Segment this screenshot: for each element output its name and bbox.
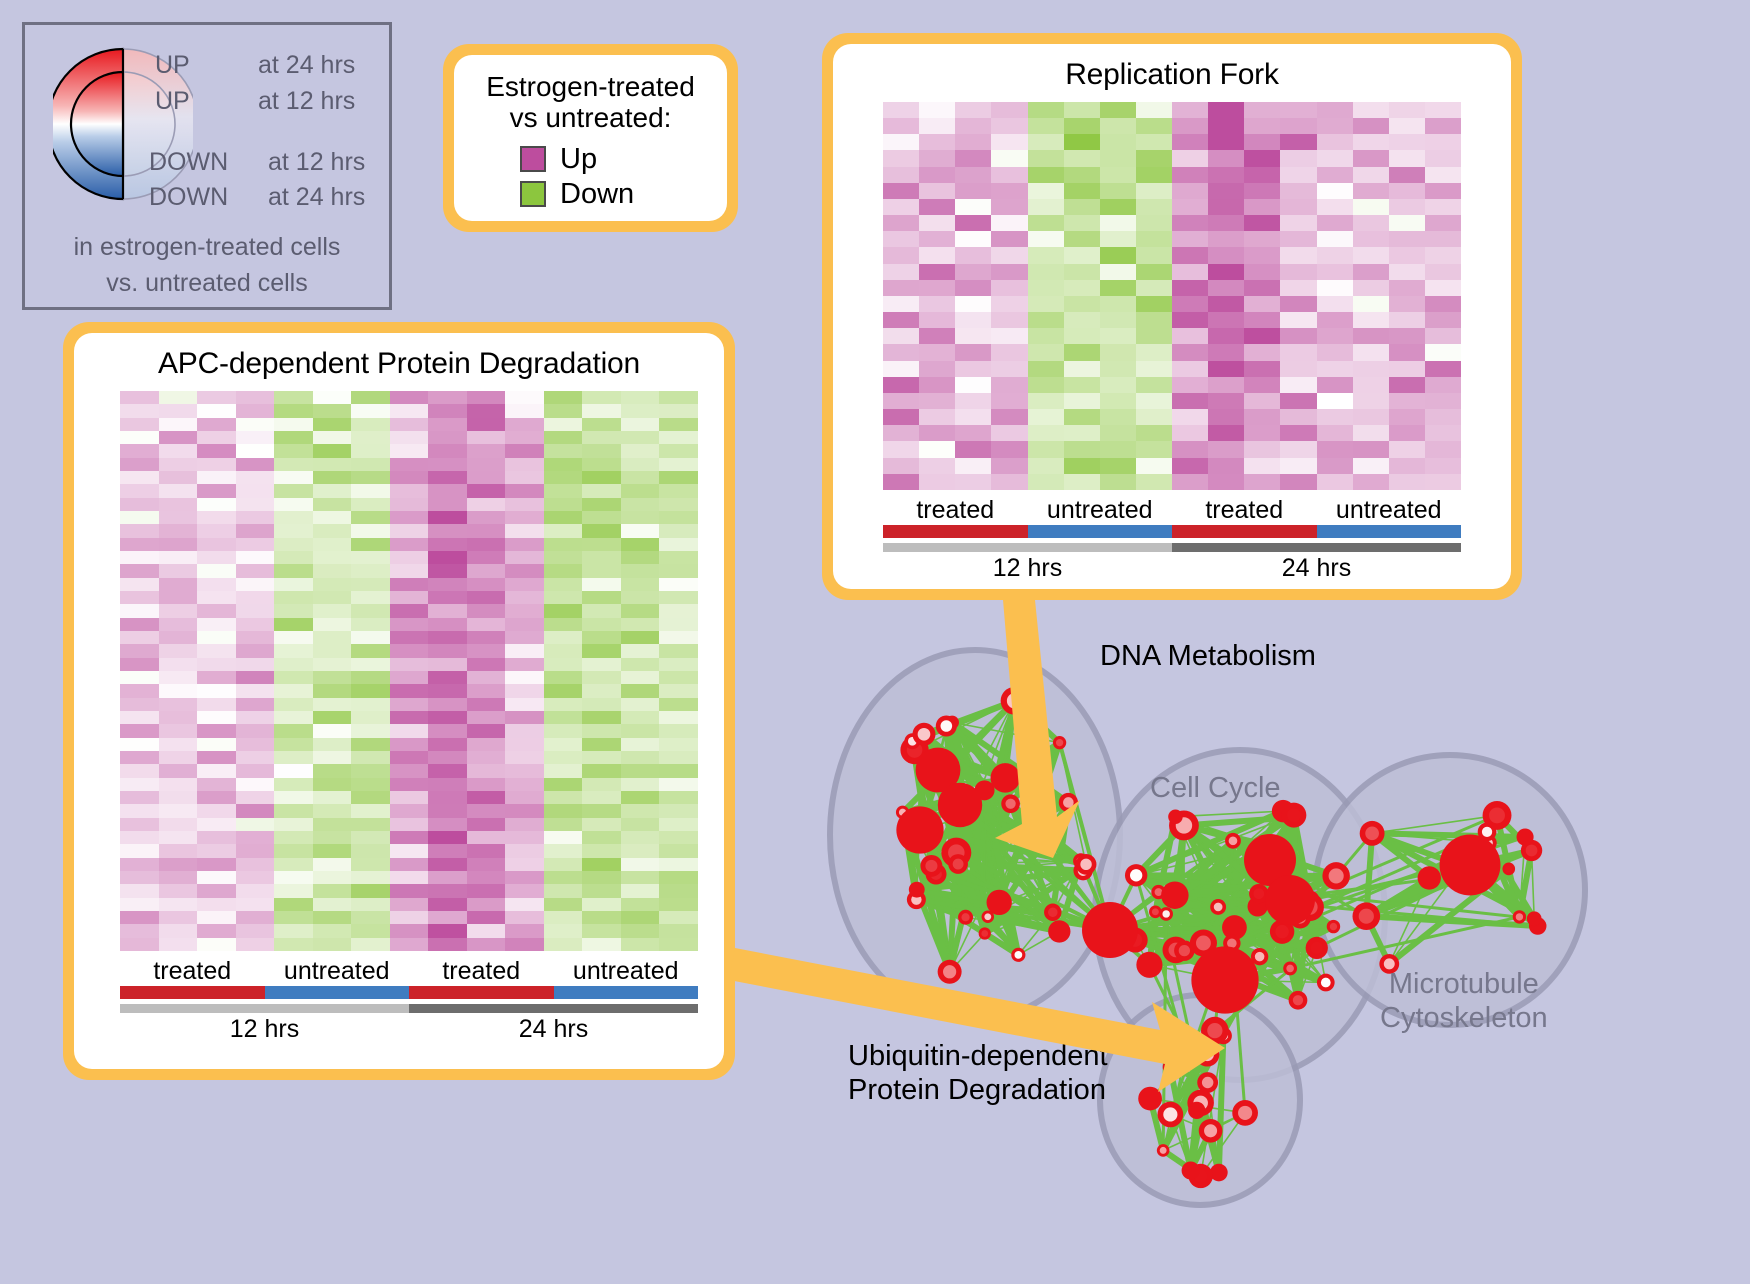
heatmap-cell xyxy=(120,871,159,884)
heatmap-cell xyxy=(582,484,621,497)
heatmap-cell xyxy=(1172,264,1208,280)
heatmap-cell xyxy=(351,791,390,804)
heatmap-cell xyxy=(120,604,159,617)
apc-time-bars xyxy=(120,1004,698,1013)
heatmap-cell xyxy=(428,658,467,671)
heatmap-cell xyxy=(505,431,544,444)
heatmap-cell xyxy=(659,631,698,644)
heatmap-cell xyxy=(274,764,313,777)
heatmap-cell xyxy=(1353,102,1389,118)
heatmap-cell xyxy=(197,404,236,417)
network-node[interactable] xyxy=(1517,829,1534,846)
heatmap-cell xyxy=(955,458,991,474)
network-node[interactable] xyxy=(1048,920,1070,942)
heatmap-cell xyxy=(1172,441,1208,457)
heatmap-cell xyxy=(274,511,313,524)
heatmap-cell xyxy=(659,604,698,617)
heatmap-cell xyxy=(159,938,198,951)
heatmap-cell xyxy=(1064,118,1100,134)
heatmap-cell xyxy=(1208,102,1244,118)
heatmap-cell xyxy=(428,791,467,804)
heatmap-cell xyxy=(236,938,275,951)
heatmap-cell xyxy=(505,631,544,644)
heatmap-cell xyxy=(428,898,467,911)
heatmap-cell xyxy=(1389,215,1425,231)
network-node[interactable] xyxy=(1289,991,1308,1010)
heatmap-cell xyxy=(505,804,544,817)
heatmap-cell xyxy=(955,441,991,457)
heatmap-cell xyxy=(955,296,991,312)
heatmap-cell xyxy=(1100,264,1136,280)
heatmap-cell xyxy=(1244,393,1280,409)
network-node[interactable] xyxy=(1059,793,1078,812)
heatmap-cell xyxy=(1317,118,1353,134)
heatmap-cell xyxy=(955,312,991,328)
heatmap-cell xyxy=(1317,474,1353,490)
network-node[interactable] xyxy=(1138,1087,1162,1111)
heatmap-cell xyxy=(1208,441,1244,457)
heatmap-cell xyxy=(919,199,955,215)
heatmap-cell xyxy=(159,804,198,817)
heatmap-cell xyxy=(1064,247,1100,263)
heatmap-cell xyxy=(351,711,390,724)
heatmap-cell xyxy=(236,858,275,871)
heatmap-cell xyxy=(197,498,236,511)
heatmap-cell xyxy=(1028,118,1064,134)
heatmap-cell xyxy=(159,818,198,831)
heatmap-cell xyxy=(313,391,352,404)
heatmap-cell xyxy=(1100,409,1136,425)
network-node[interactable] xyxy=(1197,1072,1218,1093)
heatmap-cell xyxy=(428,818,467,831)
rf-bar-treated-24 xyxy=(1172,525,1317,538)
heatmap-cell xyxy=(390,924,429,937)
heatmap-cell xyxy=(991,231,1027,247)
heatmap-cell xyxy=(544,671,583,684)
key-item-up-label: Up xyxy=(560,143,597,176)
key-item-down-label: Down xyxy=(560,178,634,211)
heatmap-cell xyxy=(428,644,467,657)
heatmap-cell xyxy=(505,831,544,844)
heatmap-cell xyxy=(659,871,698,884)
heatmap-cell xyxy=(919,264,955,280)
heatmap-cell xyxy=(1389,183,1425,199)
heatmap-cell xyxy=(582,911,621,924)
heatmap-cell xyxy=(1100,118,1136,134)
heatmap-cell xyxy=(1028,425,1064,441)
network-node[interactable] xyxy=(1082,902,1138,958)
heatmap-cell xyxy=(1317,167,1353,183)
heatmap-cell xyxy=(544,858,583,871)
heatmap-cell xyxy=(197,644,236,657)
heatmap-cell xyxy=(883,280,919,296)
heatmap-cell xyxy=(991,312,1027,328)
heatmap-cell xyxy=(428,471,467,484)
network-node[interactable] xyxy=(1157,1144,1170,1157)
heatmap-cell xyxy=(883,296,919,312)
network-node[interactable] xyxy=(1188,1102,1205,1119)
heatmap-cell xyxy=(1425,134,1461,150)
heatmap-cell xyxy=(1100,167,1136,183)
heatmap-cell xyxy=(621,831,660,844)
heatmap-cell xyxy=(1389,150,1425,166)
heatmap-cell xyxy=(159,498,198,511)
heatmap-cell xyxy=(659,724,698,737)
network-node[interactable] xyxy=(1044,904,1061,921)
rf-time-bars xyxy=(883,543,1461,552)
network-node[interactable] xyxy=(1163,1060,1178,1075)
network-node[interactable] xyxy=(938,960,962,984)
network-node[interactable] xyxy=(1317,974,1335,992)
heatmap-cell xyxy=(159,511,198,524)
heatmap-cell xyxy=(1208,377,1244,393)
network-node[interactable] xyxy=(1168,809,1182,823)
network-node[interactable] xyxy=(1527,911,1542,926)
heatmap-cell xyxy=(991,150,1027,166)
heatmap-cell xyxy=(274,818,313,831)
rf-gbar-12hrs xyxy=(883,543,1172,552)
heatmap-cell xyxy=(428,858,467,871)
heatmap-cell xyxy=(236,711,275,724)
heatmap-cell xyxy=(1244,199,1280,215)
heatmap-cell xyxy=(1425,215,1461,231)
heatmap-cell xyxy=(582,884,621,897)
heatmap-cell xyxy=(582,711,621,724)
apc-dependent-panel: APC-dependent Protein Degradation treate… xyxy=(63,322,735,1080)
heatmap-cell xyxy=(1317,150,1353,166)
network-node[interactable] xyxy=(1306,937,1328,959)
network-node[interactable] xyxy=(1136,952,1162,978)
heatmap-cell xyxy=(159,538,198,551)
network-node[interactable] xyxy=(1201,1017,1229,1045)
heatmap-cell xyxy=(1208,296,1244,312)
heatmap-cell xyxy=(428,924,467,937)
network-node[interactable] xyxy=(958,910,973,925)
heatmap-cell xyxy=(991,199,1027,215)
rf-group-label-0: treated xyxy=(883,496,1028,525)
heatmap-cell xyxy=(467,751,506,764)
network-node[interactable] xyxy=(1182,1161,1200,1179)
heatmap-cell xyxy=(991,458,1027,474)
heatmap-cell xyxy=(919,102,955,118)
heatmap-cell xyxy=(390,538,429,551)
network-node[interactable] xyxy=(1195,1042,1219,1066)
heatmap-cell xyxy=(428,511,467,524)
heatmap-cell xyxy=(120,564,159,577)
heatmap-cell xyxy=(1064,280,1100,296)
heatmap-cell xyxy=(1172,247,1208,263)
heatmap-cell xyxy=(351,578,390,591)
heatmap-cell xyxy=(659,618,698,631)
heatmap-cell xyxy=(659,764,698,777)
network-node[interactable] xyxy=(1159,907,1173,921)
network-node[interactable] xyxy=(920,855,942,877)
heatmap-cell xyxy=(955,118,991,134)
replication-fork-title: Replication Fork xyxy=(833,44,1511,92)
heatmap-cell xyxy=(1172,231,1208,247)
network-node[interactable] xyxy=(1011,948,1025,962)
heatmap-cell xyxy=(1064,264,1100,280)
network-node[interactable] xyxy=(1181,1030,1198,1047)
heatmap-cell xyxy=(428,498,467,511)
heatmap-cell xyxy=(467,631,506,644)
heatmap-cell xyxy=(159,404,198,417)
heatmap-cell xyxy=(1389,134,1425,150)
heatmap-cell xyxy=(428,711,467,724)
heatmap-cell xyxy=(1353,361,1389,377)
heatmap-cell xyxy=(313,911,352,924)
heatmap-cell xyxy=(505,778,544,791)
heatmap-cell xyxy=(955,102,991,118)
network-node[interactable] xyxy=(1026,802,1048,824)
heatmap-cell xyxy=(351,778,390,791)
network-node[interactable] xyxy=(991,763,1021,793)
wheel-footer-line2: vs. untreated cells xyxy=(25,269,389,298)
network-node[interactable] xyxy=(1210,1164,1228,1182)
heatmap-cell xyxy=(1172,393,1208,409)
network-node[interactable] xyxy=(896,806,943,853)
heatmap-cell xyxy=(1172,280,1208,296)
heatmap-cell xyxy=(1389,247,1425,263)
heatmap-cell xyxy=(1064,231,1100,247)
heatmap-cell xyxy=(1317,393,1353,409)
apc-bar-treated-12 xyxy=(120,986,265,999)
network-node[interactable] xyxy=(1265,875,1315,925)
heatmap-cell xyxy=(351,898,390,911)
heatmap-cell xyxy=(120,898,159,911)
network-node[interactable] xyxy=(1322,862,1350,890)
heatmap-cell xyxy=(919,312,955,328)
heatmap-cell xyxy=(274,924,313,937)
heatmap-cell xyxy=(1064,296,1100,312)
network-node[interactable] xyxy=(948,854,968,874)
network-node[interactable] xyxy=(1191,946,1258,1013)
heatmap-cell xyxy=(1028,312,1064,328)
heatmap-cell xyxy=(883,425,919,441)
network-node[interactable] xyxy=(1199,1119,1223,1143)
heatmap-cell xyxy=(1064,199,1100,215)
heatmap-cell xyxy=(351,764,390,777)
network-node[interactable] xyxy=(982,911,994,923)
heatmap-cell xyxy=(544,604,583,617)
heatmap-cell xyxy=(467,804,506,817)
heatmap-cell xyxy=(274,724,313,737)
network-node[interactable] xyxy=(1125,864,1147,886)
heatmap-cell xyxy=(659,831,698,844)
network-node[interactable] xyxy=(1225,833,1241,849)
heatmap-cell xyxy=(1280,328,1316,344)
heatmap-cell xyxy=(919,393,955,409)
apc-group-label-3: untreated xyxy=(554,957,699,986)
heatmap-cell xyxy=(120,551,159,564)
heatmap-cell xyxy=(544,444,583,457)
heatmap-cell xyxy=(467,458,506,471)
heatmap-cell xyxy=(1136,393,1172,409)
heatmap-cell xyxy=(120,538,159,551)
heatmap-cell xyxy=(236,524,275,537)
network-node[interactable] xyxy=(1001,794,1020,813)
heatmap-cell xyxy=(1208,231,1244,247)
heatmap-cell xyxy=(351,698,390,711)
replication-fork-panel: Replication Fork treated untreated treat… xyxy=(822,33,1522,600)
network-node[interactable] xyxy=(1053,736,1066,749)
heatmap-cell xyxy=(1317,441,1353,457)
heatmap-cell xyxy=(1389,231,1425,247)
apc-annotations: treated untreated treated untreated 12 h… xyxy=(120,957,698,1044)
heatmap-cell xyxy=(351,551,390,564)
heatmap-cell xyxy=(428,591,467,604)
network-node[interactable] xyxy=(909,882,925,898)
heatmap-cell xyxy=(1100,425,1136,441)
heatmap-cell xyxy=(1425,377,1461,393)
heatmap-cell xyxy=(1208,312,1244,328)
network-node[interactable] xyxy=(1149,906,1162,919)
heatmap-cell xyxy=(1280,231,1316,247)
heatmap-cell xyxy=(159,844,198,857)
network-node[interactable] xyxy=(1283,962,1297,976)
network-node[interactable] xyxy=(1210,899,1226,915)
heatmap-cell xyxy=(659,658,698,671)
heatmap-cell xyxy=(274,391,313,404)
heatmap-cell xyxy=(120,631,159,644)
heatmap-cell xyxy=(1100,215,1136,231)
heatmap-cell xyxy=(621,911,660,924)
network-node[interactable] xyxy=(1174,940,1195,961)
heatmap-cell xyxy=(1172,167,1208,183)
heatmap-cell xyxy=(621,444,660,457)
heatmap-cell xyxy=(659,924,698,937)
heatmap-cell xyxy=(1064,361,1100,377)
network-node[interactable] xyxy=(1158,1102,1184,1128)
heatmap-cell xyxy=(1136,409,1172,425)
heatmap-cell xyxy=(428,418,467,431)
network-node[interactable] xyxy=(1418,866,1441,889)
heatmap-cell xyxy=(1425,441,1461,457)
heatmap-cell xyxy=(1389,296,1425,312)
heatmap-cell xyxy=(236,698,275,711)
heatmap-cell xyxy=(159,698,198,711)
heatmap-cell xyxy=(1425,458,1461,474)
heatmap-cell xyxy=(1136,215,1172,231)
heatmap-cell xyxy=(582,858,621,871)
heatmap-cell xyxy=(659,671,698,684)
heatmap-cell xyxy=(544,884,583,897)
heatmap-cell xyxy=(236,791,275,804)
heatmap-cell xyxy=(197,684,236,697)
heatmap-cell xyxy=(313,578,352,591)
heatmap-cell xyxy=(1028,102,1064,118)
apc-time-label-12: 12 hrs xyxy=(120,1015,409,1044)
heatmap-cell xyxy=(505,858,544,871)
heatmap-cell xyxy=(467,658,506,671)
up-swatch-icon xyxy=(520,146,546,172)
heatmap-cell xyxy=(883,361,919,377)
updown-key-panel: Estrogen-treated vs untreated: Up Down xyxy=(443,44,738,232)
network-node[interactable] xyxy=(1232,1100,1258,1126)
network-node[interactable] xyxy=(1353,902,1381,930)
heatmap-cell xyxy=(1353,409,1389,425)
heatmap-cell xyxy=(197,871,236,884)
network-node[interactable] xyxy=(1076,854,1097,875)
heatmap-cell xyxy=(582,391,621,404)
heatmap-cell xyxy=(1317,215,1353,231)
heatmap-cell xyxy=(159,671,198,684)
heatmap-cell xyxy=(1064,328,1100,344)
heatmap-cell xyxy=(159,911,198,924)
heatmap-cell xyxy=(467,538,506,551)
heatmap-cell xyxy=(236,458,275,471)
heatmap-cell xyxy=(1028,199,1064,215)
network-node[interactable] xyxy=(1502,863,1515,876)
network-node[interactable] xyxy=(1001,687,1029,715)
heatmap-cell xyxy=(236,871,275,884)
heatmap-cell xyxy=(544,791,583,804)
heatmap-cell xyxy=(313,818,352,831)
heatmap-cell xyxy=(505,764,544,777)
network-node[interactable] xyxy=(936,715,957,736)
heatmap-cell xyxy=(1317,264,1353,280)
key-heading-line2: vs untreated: xyxy=(454,102,727,133)
heatmap-cell xyxy=(659,858,698,871)
heatmap-cell xyxy=(659,791,698,804)
heatmap-cell xyxy=(1317,344,1353,360)
heatmap-cell xyxy=(1208,150,1244,166)
heatmap-cell xyxy=(919,474,955,490)
heatmap-cell xyxy=(1244,215,1280,231)
network-node[interactable] xyxy=(938,783,982,827)
network-node[interactable] xyxy=(1360,821,1385,846)
heatmap-cell xyxy=(1244,102,1280,118)
heatmap-cell xyxy=(390,684,429,697)
heatmap-cell xyxy=(467,644,506,657)
heatmap-cell xyxy=(1136,118,1172,134)
heatmap-cell xyxy=(428,391,467,404)
heatmap-cell xyxy=(1353,425,1389,441)
network-node[interactable] xyxy=(1161,881,1188,908)
network-node[interactable] xyxy=(1513,910,1526,923)
heatmap-cell xyxy=(1244,474,1280,490)
heatmap-cell xyxy=(120,511,159,524)
network-node[interactable] xyxy=(1327,920,1340,933)
network-node[interactable] xyxy=(979,927,991,939)
heatmap-cell xyxy=(197,551,236,564)
heatmap-cell xyxy=(1353,441,1389,457)
heatmap-cell xyxy=(1317,199,1353,215)
heatmap-cell xyxy=(120,778,159,791)
heatmap-cell xyxy=(351,618,390,631)
heatmap-cell xyxy=(505,938,544,951)
heatmap-cell xyxy=(582,458,621,471)
heatmap-cell xyxy=(1280,264,1316,280)
rf-group-label-2: treated xyxy=(1172,496,1317,525)
heatmap-cell xyxy=(955,328,991,344)
heatmap-cell xyxy=(991,247,1027,263)
heatmap-cell xyxy=(390,858,429,871)
heatmap-cell xyxy=(1280,296,1316,312)
heatmap-cell xyxy=(1280,344,1316,360)
network-node[interactable] xyxy=(1440,835,1501,896)
heatmap-cell xyxy=(621,524,660,537)
heatmap-cell xyxy=(1353,150,1389,166)
network-node[interactable] xyxy=(1281,803,1306,828)
heatmap-cell xyxy=(544,578,583,591)
heatmap-cell xyxy=(390,818,429,831)
heatmap-cell xyxy=(1028,377,1064,393)
heatmap-cell xyxy=(313,431,352,444)
heatmap-cell xyxy=(159,644,198,657)
heatmap-cell xyxy=(313,604,352,617)
network-node[interactable] xyxy=(912,723,935,746)
